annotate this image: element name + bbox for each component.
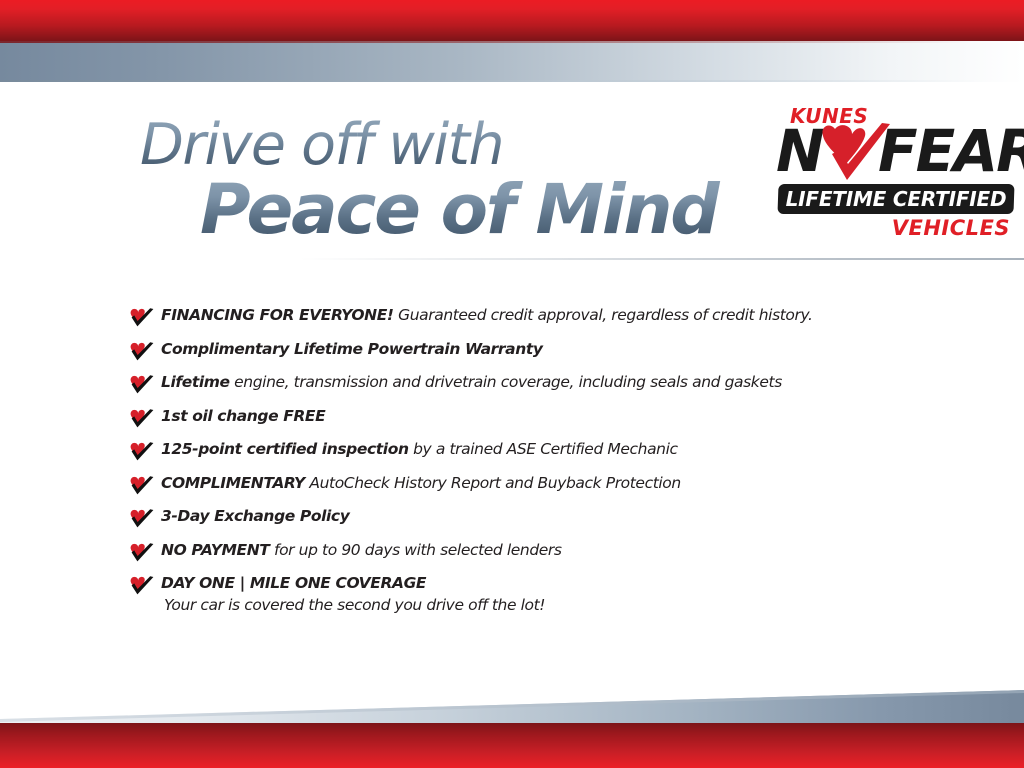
list-item-text: COMPLIMENTARY AutoCheck History Report a… [161, 474, 980, 493]
list-item-text: FINANCING FOR EVERYONE! Guaranteed credi… [161, 306, 980, 325]
list-item-bold: Lifetime [161, 373, 230, 391]
list-item-body: Complimentary Lifetime Powertrain Warran… [161, 340, 980, 359]
list-item-bold: NO PAYMENT [161, 541, 269, 559]
heart-check-bullet-icon [130, 475, 154, 497]
list-item: Complimentary Lifetime Powertrain Warran… [130, 340, 980, 363]
list-item: 3-Day Exchange Policy [130, 507, 980, 530]
list-item-body: FINANCING FOR EVERYONE! Guaranteed credi… [161, 306, 980, 325]
list-item-rest: for up to 90 days with selected lenders [269, 541, 561, 559]
logo-lifetime-certified-text: LIFETIME CERTIFIED [778, 184, 1014, 214]
top-red-stripe [0, 0, 1024, 41]
list-item-bold: COMPLIMENTARY [161, 474, 305, 492]
heart-check-bullet-icon [130, 408, 154, 430]
heart-check-bullet-icon [130, 307, 154, 329]
list-item: COMPLIMENTARY AutoCheck History Report a… [130, 474, 980, 497]
list-item: 125-point certified inspection by a trai… [130, 440, 980, 463]
list-item-body: 125-point certified inspection by a trai… [161, 440, 980, 459]
heart-check-bullet-icon [130, 542, 154, 564]
list-item-rest: engine, transmission and drivetrain cove… [230, 373, 782, 391]
list-item: FINANCING FOR EVERYONE! Guaranteed credi… [130, 306, 980, 329]
logo-word-fear: FEAR [878, 122, 1024, 180]
list-item: Lifetime engine, transmission and drivet… [130, 373, 980, 396]
list-item-text: DAY ONE | MILE ONE COVERAGE [161, 574, 980, 593]
list-item-text: Lifetime engine, transmission and drivet… [161, 373, 980, 392]
kunes-no-fear-logo: KUNES N FEAR LIFETIME CERTIFIED VEHICLES [774, 104, 1016, 244]
heart-check-bullet-icon [130, 508, 154, 530]
bottom-banner-stripes [0, 690, 1024, 768]
list-item-bold: DAY ONE | MILE ONE COVERAGE [161, 574, 426, 592]
list-item: DAY ONE | MILE ONE COVERAGE Your car is … [130, 574, 980, 615]
list-item-rest: Guaranteed credit approval, regardless o… [394, 306, 813, 324]
list-item-text: NO PAYMENT for up to 90 days with select… [161, 541, 980, 560]
headline-line-2: Peace of Mind [200, 177, 758, 243]
list-item-text: 125-point certified inspection by a trai… [161, 440, 980, 459]
heart-check-bullet-icon [130, 374, 154, 396]
page-title: Drive off with Peace of Mind [138, 118, 758, 243]
list-item-body: 3-Day Exchange Policy [161, 507, 980, 526]
logo-nofear-wordmark: N FEAR [774, 124, 1016, 186]
list-item-bold: FINANCING FOR EVERYONE! [161, 306, 394, 324]
headline-line-1: Drive off with [140, 118, 758, 173]
logo-lifetime-certified-bar: LIFETIME CERTIFIED [777, 184, 1014, 214]
list-item-text: 3-Day Exchange Policy [161, 507, 980, 526]
heart-check-bullet-icon [130, 575, 154, 597]
top-gray-stripe [0, 41, 1024, 82]
list-item-body: DAY ONE | MILE ONE COVERAGE Your car is … [161, 574, 980, 615]
bottom-red-stripe [0, 723, 1024, 768]
list-item-subtext: Your car is covered the second you drive… [164, 595, 980, 615]
list-item-body: 1st oil change FREE [161, 407, 980, 426]
list-item: 1st oil change FREE [130, 407, 980, 430]
advertisement-canvas: Drive off with Peace of Mind KUNES N FEA… [0, 0, 1024, 768]
heart-check-bullet-icon [130, 341, 154, 363]
list-item-body: COMPLIMENTARY AutoCheck History Report a… [161, 474, 980, 493]
list-item-bold: 1st oil change FREE [161, 407, 325, 425]
list-item-rest: by a trained ASE Certified Mechanic [409, 440, 678, 458]
benefits-list: FINANCING FOR EVERYONE! Guaranteed credi… [130, 306, 980, 626]
list-item-text: 1st oil change FREE [161, 407, 980, 426]
top-banner-stripes [0, 0, 1024, 84]
list-item-bold: Complimentary Lifetime Powertrain Warran… [161, 340, 543, 358]
list-item-bold: 3-Day Exchange Policy [161, 507, 349, 525]
logo-word-vehicles: VEHICLES [892, 216, 1010, 240]
list-item-text: Complimentary Lifetime Powertrain Warran… [161, 340, 980, 359]
list-item: NO PAYMENT for up to 90 days with select… [130, 541, 980, 564]
header-divider [300, 258, 1024, 260]
list-item-rest: AutoCheck History Report and Buyback Pro… [305, 474, 681, 492]
list-item-body: Lifetime engine, transmission and drivet… [161, 373, 980, 392]
list-item-body: NO PAYMENT for up to 90 days with select… [161, 541, 980, 560]
list-item-bold: 125-point certified inspection [161, 440, 409, 458]
heart-check-bullet-icon [130, 441, 154, 463]
